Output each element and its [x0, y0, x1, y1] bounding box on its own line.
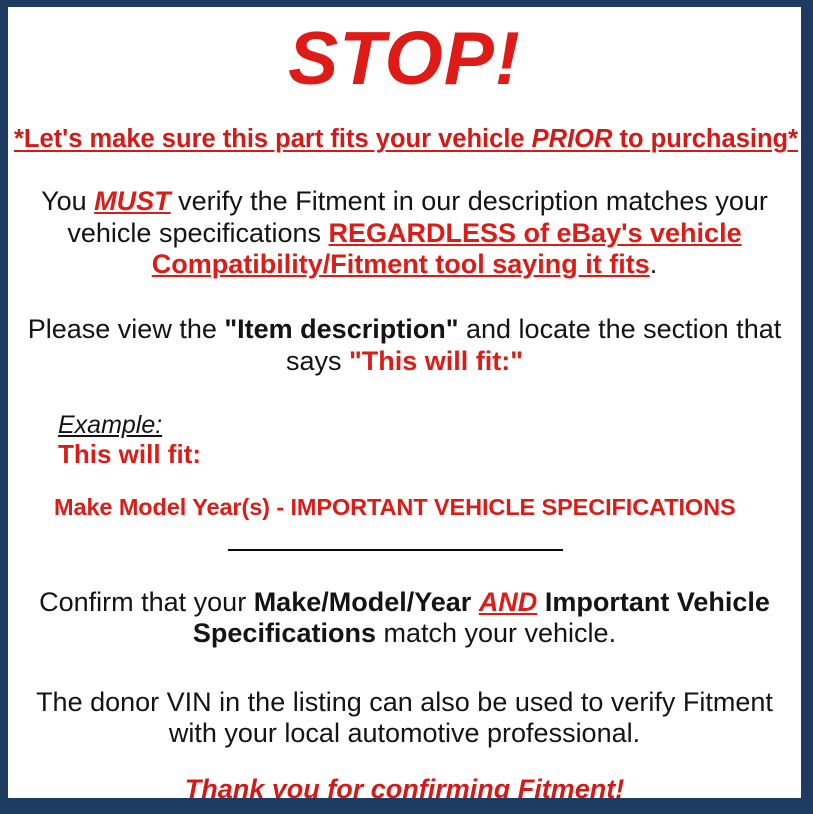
confirm-paragraph: Confirm that your Make/Model/Year AND Im…	[14, 587, 795, 650]
horizontal-divider	[228, 549, 563, 551]
view-description-paragraph: Please view the "Item description" and l…	[14, 314, 795, 377]
example-label: Example:	[58, 412, 795, 439]
example-fit-heading: This will fit:	[58, 440, 795, 469]
donor-vin-paragraph: The donor VIN in the listing can also be…	[14, 687, 795, 750]
fitment-notice-card: STOP! *Let's make sure this part fits yo…	[8, 7, 801, 798]
must-verify-paragraph: You MUST verify the Fitment in our descr…	[14, 186, 795, 280]
confirm-part1: Confirm that your	[39, 587, 254, 617]
subtitle-emphasis-prior: PRIOR	[532, 125, 613, 153]
example-block: Example: This will fit:	[14, 412, 795, 469]
view-emphasis-item-description: "Item description"	[224, 314, 458, 344]
example-spec-line: Make Model Year(s) - IMPORTANT VEHICLE S…	[14, 494, 795, 521]
confirm-part3	[537, 587, 545, 617]
subtitle-text-part1: *Let's make sure this part fits your veh…	[14, 125, 532, 153]
notice-inner: STOP! *Let's make sure this part fits yo…	[8, 21, 801, 798]
must-part1: You	[41, 186, 94, 216]
thank-you-line: Thank you for confirming Fitment!	[14, 775, 795, 798]
confirm-part2	[471, 587, 479, 617]
subtitle-line: *Let's make sure this part fits your veh…	[14, 125, 795, 154]
stop-title: STOP!	[14, 21, 795, 96]
must-emphasis-must: MUST	[94, 186, 171, 216]
view-part1: Please view the	[28, 314, 225, 344]
confirm-part4: match your vehicle.	[376, 618, 616, 648]
view-emphasis-this-will-fit: "This will fit:"	[349, 346, 523, 376]
must-part3: .	[650, 249, 658, 279]
confirm-emphasis-make-model-year: Make/Model/Year	[254, 587, 472, 617]
subtitle-text-part2: to purchasing*	[612, 125, 798, 153]
divider-wrapper	[14, 543, 795, 557]
confirm-emphasis-and: AND	[479, 587, 538, 617]
